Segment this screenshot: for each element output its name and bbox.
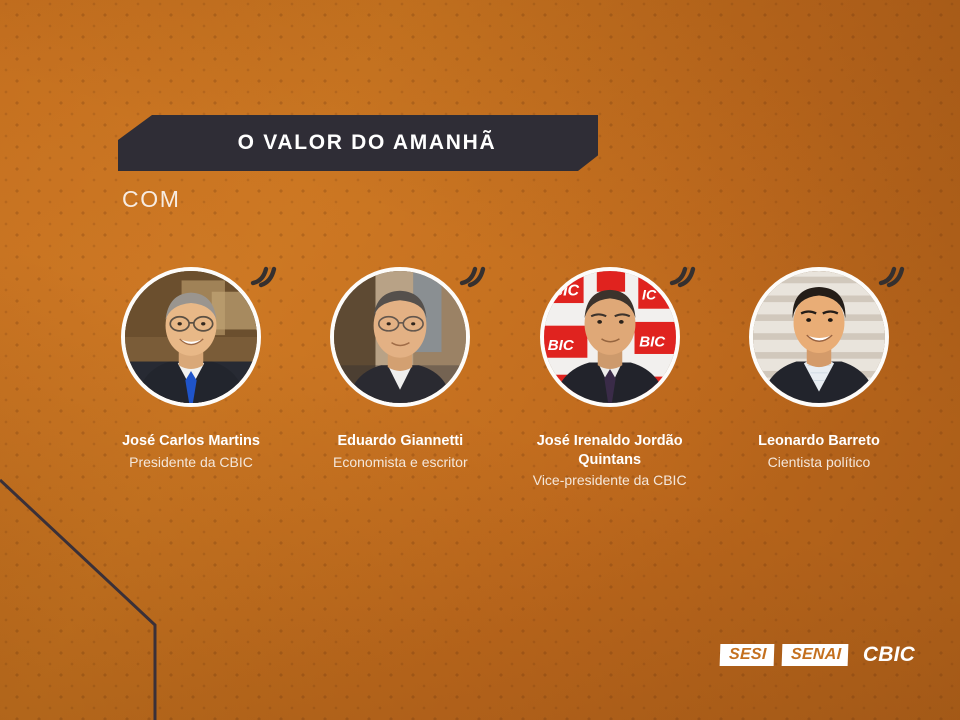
speaker-role: Cientista político	[768, 453, 871, 471]
page-title: O VALOR DO AMANHÃ	[220, 131, 497, 155]
speaker-role: Presidente da CBIC	[129, 453, 253, 471]
signal-arcs-icon	[872, 258, 906, 292]
title-banner: O VALOR DO AMANHÃ	[118, 115, 598, 171]
svg-text:IC: IC	[642, 286, 657, 302]
avatar	[121, 267, 261, 407]
sesi-logo: SESI	[719, 644, 773, 666]
speaker-name: José Irenaldo Jordão Quintans	[515, 432, 705, 469]
signal-arcs-icon	[453, 258, 487, 292]
svg-text:BIC: BIC	[547, 337, 574, 354]
avatar: BIC BIC BIC IC	[540, 267, 680, 407]
speaker-card: Leonardo Barreto Cientista político	[718, 262, 920, 471]
speakers-list: José Carlos Martins Presidente da CBIC	[90, 262, 920, 489]
speaker-role: Economista e escritor	[333, 453, 468, 471]
avatar	[749, 267, 889, 407]
svg-text:BIC: BIC	[639, 333, 666, 350]
speaker-name: Leonardo Barreto	[758, 432, 880, 451]
avatar-wrapper	[116, 262, 266, 412]
speaker-card: José Carlos Martins Presidente da CBIC	[90, 262, 292, 471]
speaker-name: José Carlos Martins	[122, 432, 260, 451]
svg-text:BIC: BIC	[551, 282, 579, 300]
with-label: COM	[122, 186, 180, 213]
speaker-card: BIC BIC BIC IC	[509, 262, 711, 489]
speaker-role: Vice-presidente da CBIC	[533, 471, 687, 489]
cbic-logo: CBIC	[863, 643, 915, 667]
avatar-wrapper	[744, 262, 894, 412]
speaker-name: Eduardo Giannetti	[337, 432, 463, 451]
footer-logos: SESI SENAI CBIC	[720, 643, 915, 667]
speaker-card: Eduardo Giannetti Economista e escritor	[299, 262, 501, 471]
slide-canvas: O VALOR DO AMANHÃ COM	[0, 0, 960, 720]
signal-arcs-icon	[663, 258, 697, 292]
signal-arcs-icon	[244, 258, 278, 292]
avatar-wrapper: BIC BIC BIC IC	[535, 262, 685, 412]
avatar-wrapper	[325, 262, 475, 412]
avatar	[330, 267, 470, 407]
senai-logo: SENAI	[782, 644, 849, 666]
